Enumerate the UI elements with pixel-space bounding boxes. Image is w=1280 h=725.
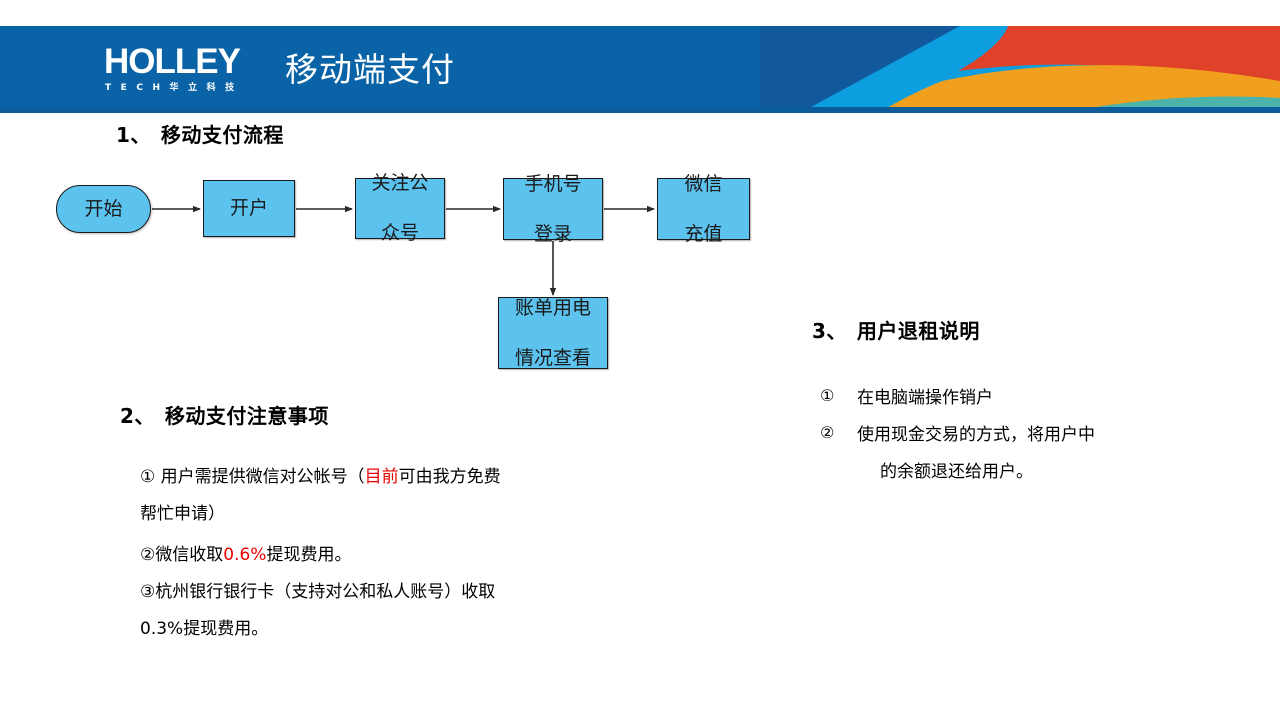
section-1-title: 移动支付流程 bbox=[161, 123, 284, 147]
section-1-number: 1、 bbox=[116, 123, 151, 147]
flow-node-login-line2: 登录 bbox=[524, 222, 581, 247]
refund-item-2-line-1: 使用现金交易的方式，将用户中 bbox=[857, 420, 1095, 450]
flow-node-recharge-line2: 充值 bbox=[684, 222, 722, 247]
section-3-number: 3、 bbox=[812, 319, 847, 343]
flow-node-bill-line2: 情况查看 bbox=[515, 346, 591, 371]
flow-node-follow-line2: 众号 bbox=[371, 221, 428, 246]
note-1-text-b: 可由我方免费 bbox=[399, 467, 501, 487]
refund-item-1-text: 在电脑端操作销户 bbox=[857, 383, 993, 413]
flow-node-open-account-label: 开户 bbox=[230, 196, 268, 221]
refund-item-1-marker: ① bbox=[820, 386, 834, 405]
flow-node-bill-usage-view[interactable]: 账单用电 情况查看 bbox=[498, 297, 608, 369]
flow-node-bill-line1: 账单用电 bbox=[515, 296, 591, 321]
note-item-3-line-2: 0.3%提现费用。 bbox=[140, 609, 268, 649]
section-2-title: 移动支付注意事项 bbox=[165, 404, 329, 428]
note-2-text-b: 提现费用。 bbox=[266, 545, 351, 565]
note-2-text-a: ②微信收取 bbox=[140, 545, 223, 565]
note-item-2: ②微信收取0.6%提现费用。 bbox=[140, 535, 351, 575]
section-heading-3: 3、用户退租说明 bbox=[812, 315, 980, 344]
flow-node-phone-login[interactable]: 手机号 登录 bbox=[503, 178, 603, 240]
swoosh-svg bbox=[760, 26, 1280, 113]
flow-node-recharge-line1: 微信 bbox=[684, 172, 722, 197]
flow-node-open-account[interactable]: 开户 bbox=[203, 180, 295, 237]
holley-logo: HOLLEY T E C H 华 立 科 技 bbox=[104, 43, 264, 99]
page-title: 移动端支付 bbox=[285, 48, 455, 92]
note-item-1-line-2: 帮忙申请） bbox=[140, 494, 225, 534]
refund-item-2-marker: ② bbox=[820, 423, 834, 442]
section-2-number: 2、 bbox=[120, 404, 155, 428]
flow-node-follow-official-account[interactable]: 关注公 众号 bbox=[355, 178, 445, 239]
note-1-text-a: ① 用户需提供微信对公帐号（ bbox=[140, 467, 365, 487]
note-item-1-line-1: ① 用户需提供微信对公帐号（目前可由我方免费 bbox=[140, 457, 501, 497]
section-heading-1: 1、移动支付流程 bbox=[116, 119, 284, 148]
flow-node-follow-line1: 关注公 bbox=[371, 171, 428, 196]
note-1-highlight: 目前 bbox=[365, 467, 399, 487]
note-item-3-line-1: ③杭州银行银行卡（支持对公和私人账号）收取 bbox=[140, 572, 495, 612]
header-bottom-edge bbox=[0, 107, 1280, 113]
flow-node-login-line1: 手机号 bbox=[524, 172, 581, 197]
slide-header: HOLLEY T E C H 华 立 科 技 移动端支付 bbox=[0, 0, 1280, 120]
logo-subtext: T E C H 华 立 科 技 bbox=[105, 83, 265, 94]
flow-node-start-label: 开始 bbox=[84, 197, 122, 222]
logo-wordmark: HOLLEY bbox=[104, 43, 264, 81]
section-heading-2: 2、移动支付注意事项 bbox=[120, 400, 329, 429]
header-swoosh-graphic bbox=[760, 26, 1280, 113]
flow-node-wechat-recharge[interactable]: 微信 充值 bbox=[657, 178, 750, 240]
refund-item-2-line-2: 的余额退还给用户。 bbox=[880, 457, 1033, 487]
section-3-title: 用户退租说明 bbox=[857, 319, 980, 343]
flow-node-start[interactable]: 开始 bbox=[56, 185, 151, 233]
note-2-highlight: 0.6% bbox=[223, 545, 266, 565]
